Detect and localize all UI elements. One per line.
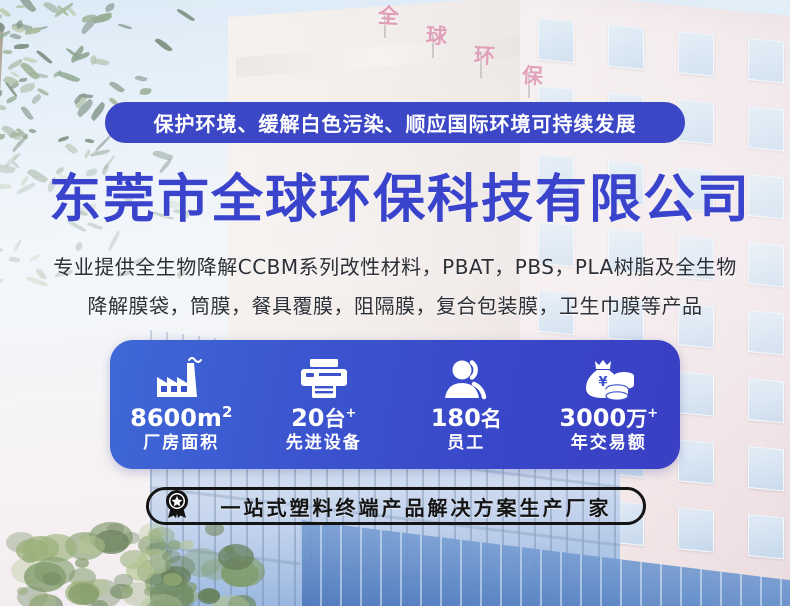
description-line-1: 专业提供全生物降解CCBM系列改性材料，PBAT，PBS，PLA树脂及全生物 <box>20 248 770 287</box>
stat-label: 年交易额 <box>571 433 647 453</box>
stat-value: 3000万+ <box>559 406 658 431</box>
stat-item: 20台+ 先进设备 <box>253 340 396 469</box>
money-bag-icon: ¥ <box>581 356 637 400</box>
stat-value: 8600m2 <box>130 405 232 431</box>
stat-label: 先进设备 <box>286 433 362 453</box>
tagline-pill: 一站式塑料终端产品解决方案生产厂家 <box>146 487 646 525</box>
content-layer: 保护环境、缓解白色污染、顺应国际环境可持续发展 东莞市全球环保科技有限公司 专业… <box>0 0 790 606</box>
tagline-text: 一站式塑料终端产品解决方案生产厂家 <box>203 492 629 521</box>
description-block: 专业提供全生物降解CCBM系列改性材料，PBAT，PBS，PLA树脂及全生物 降… <box>20 248 770 326</box>
stat-label: 员工 <box>447 433 485 453</box>
page-title: 东莞市全球环保科技有限公司 <box>30 172 770 228</box>
stat-value: 180名 <box>431 406 502 431</box>
award-medal-star-icon <box>163 489 191 524</box>
stat-label: 厂房面积 <box>143 433 219 453</box>
factory-icon <box>153 355 209 399</box>
stat-item: 8600m2 厂房面积 <box>110 340 253 469</box>
slogan-text: 保护环境、缓解白色污染、顺应国际环境可持续发展 <box>154 108 637 137</box>
stats-panel: 8600m2 厂房面积 <box>110 340 680 469</box>
people-icon <box>442 356 490 400</box>
stat-value: 20台+ <box>291 406 356 431</box>
slogan-banner: 保护环境、缓解白色污染、顺应国际环境可持续发展 <box>105 102 685 143</box>
stat-item: 180名 员工 <box>395 340 538 469</box>
printing-machine-icon <box>299 356 349 400</box>
stat-item: ¥ 3000万+ 年交易额 <box>538 340 681 469</box>
description-line-2: 降解膜袋，筒膜，餐具覆膜，阻隔膜，复合包装膜，卫生巾膜等产品 <box>20 287 770 326</box>
promo-banner: 全球环保 保护环境、缓解白色污染、顺应国际环境可持续发展 东莞市全球环保科技有限… <box>0 0 790 606</box>
